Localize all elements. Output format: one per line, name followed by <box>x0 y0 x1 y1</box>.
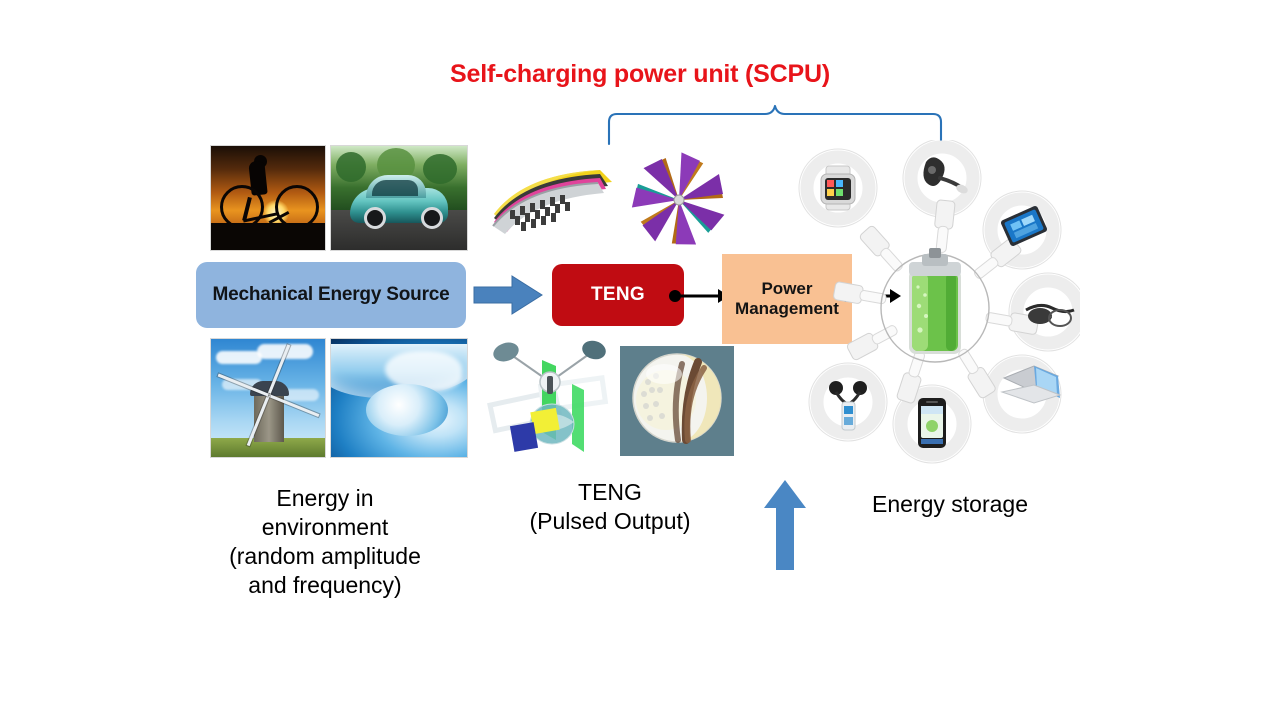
caption-energy-in-environment: Energy in environment (random amplitude … <box>180 484 470 600</box>
page-title: Self-charging power unit (SCPU) <box>0 60 1280 89</box>
photo-concept-car <box>330 145 468 251</box>
teng-box[interactable]: TENG <box>552 264 684 326</box>
device-phone <box>918 398 946 448</box>
photo-cyclist-sunset <box>210 145 326 251</box>
flow-arrow-to-teng <box>472 272 544 318</box>
connector-teng-to-power-management <box>668 285 730 307</box>
slide-canvas: Self-charging power unit (SCPU) <box>0 0 1280 720</box>
photo-ocean-wave <box>330 338 468 458</box>
teng-arched-contact-mode <box>488 160 618 238</box>
teng-rotary-pinwheel <box>620 152 738 248</box>
energy-storage-cluster <box>790 140 1080 470</box>
energy-storage-up-arrow <box>762 478 808 572</box>
caption-teng-pulsed-output: TENG (Pulsed Output) <box>470 478 750 536</box>
teng-label: TENG <box>591 284 645 306</box>
green-battery <box>909 248 961 354</box>
mechanical-energy-source-label: Mechanical Energy Source <box>212 284 449 306</box>
teng-wind-anemometer <box>486 336 614 458</box>
photo-windmill <box>210 338 326 458</box>
mechanical-energy-source-box[interactable]: Mechanical Energy Source <box>196 262 466 328</box>
teng-spherical-ball <box>620 346 734 456</box>
caption-energy-storage: Energy storage <box>830 490 1070 519</box>
device-smartwatch <box>821 166 855 210</box>
